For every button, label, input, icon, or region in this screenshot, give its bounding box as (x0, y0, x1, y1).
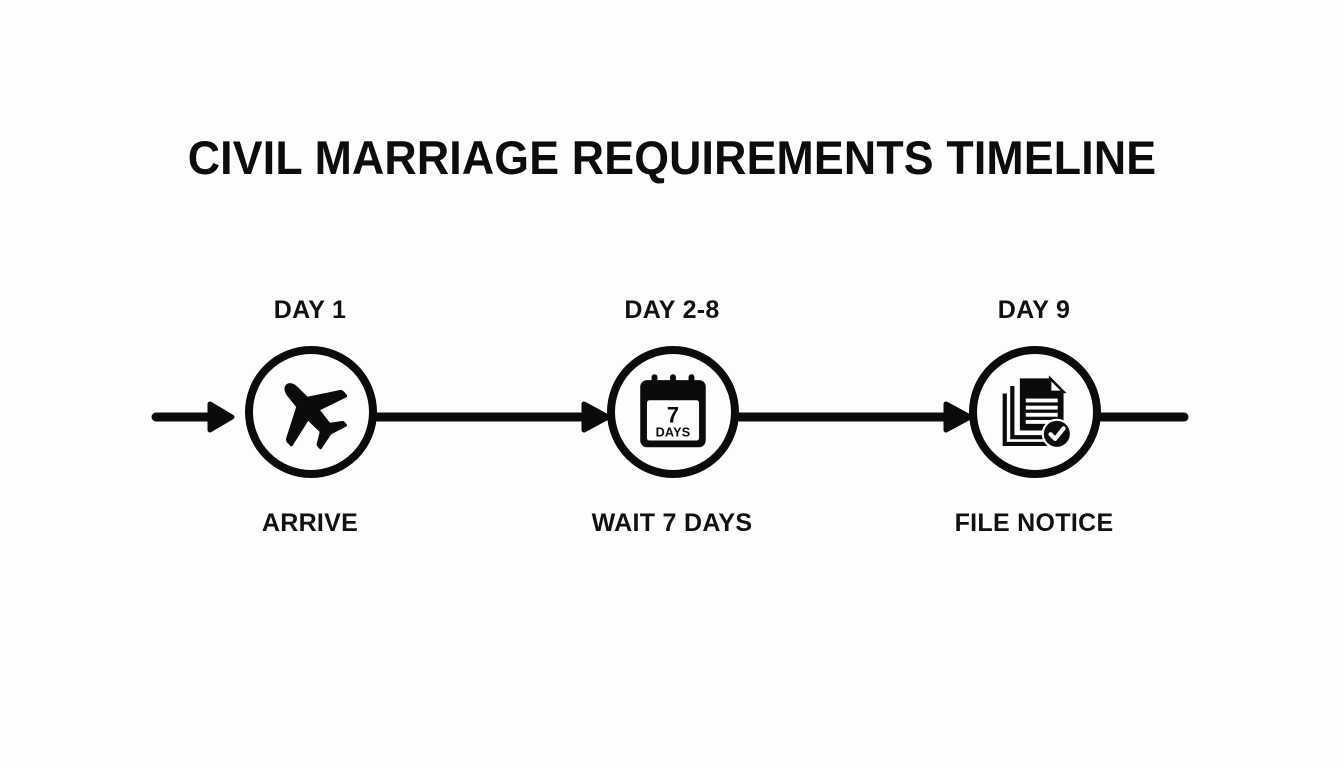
calendar-icon: 7 DAYS (631, 370, 715, 454)
airplane-icon (269, 370, 353, 454)
connector-arrive-to-wait (372, 397, 612, 437)
calendar-number: 7 (667, 403, 679, 428)
node-circle-arrive[interactable] (245, 346, 377, 478)
connector-entry-arrow (152, 397, 236, 437)
timeline-diagram: DAY 1 ARRIVE DAY 2-8 (0, 0, 1344, 768)
node-step-label-wait: WAIT 7 DAYS (562, 509, 782, 538)
node-step-label-arrive: ARRIVE (200, 509, 420, 538)
node-step-label-file-notice: FILE NOTICE (924, 509, 1144, 538)
calendar-unit: DAYS (656, 425, 691, 439)
node-circle-wait[interactable]: 7 DAYS (607, 346, 739, 478)
diagram-canvas: CIVIL MARRIAGE REQUIREMENTS TIMELINE DAY… (0, 0, 1344, 768)
connector-wait-to-file (734, 397, 974, 437)
node-day-label-file-notice: DAY 9 (949, 296, 1119, 325)
node-day-label-arrive: DAY 1 (225, 296, 395, 325)
connector-exit-line (1096, 397, 1188, 437)
node-circle-file-notice[interactable] (969, 346, 1101, 478)
documents-check-icon (993, 370, 1077, 454)
node-day-label-wait: DAY 2-8 (587, 296, 757, 325)
